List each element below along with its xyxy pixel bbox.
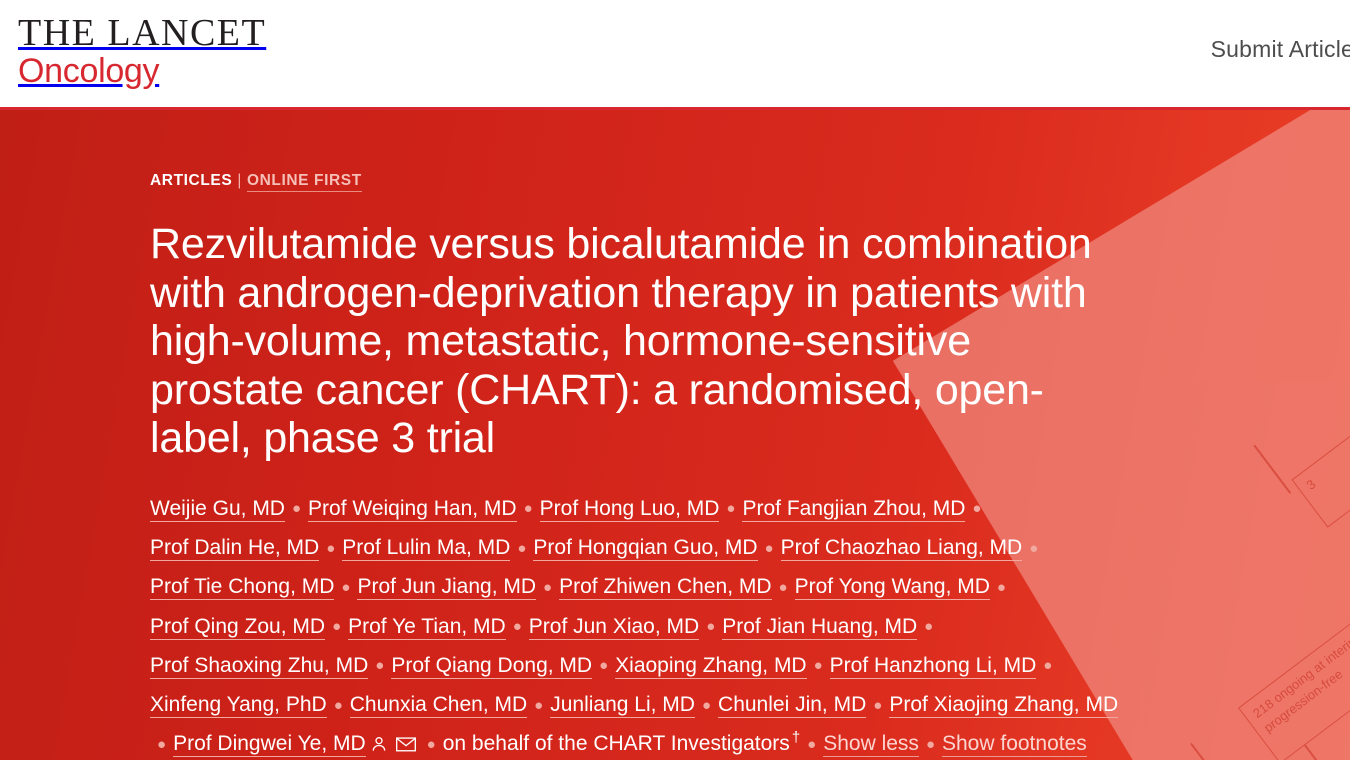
site-header: THE LANCET Oncology Submit Article bbox=[0, 0, 1350, 110]
online-first-link[interactable]: ONLINE FIRST bbox=[247, 172, 362, 192]
author-separator-dot: ● bbox=[517, 535, 526, 563]
author-separator-dot: ● bbox=[706, 613, 715, 641]
author-separator-dot: ● bbox=[972, 495, 981, 523]
author-separator-dot: ● bbox=[513, 613, 522, 641]
article-header-content: ARTICLES|ONLINE FIRST Rezvilutamide vers… bbox=[0, 110, 1120, 760]
author-link[interactable]: Prof Shaoxing Zhu, MD bbox=[150, 654, 368, 679]
author-link[interactable]: Xinfeng Yang, PhD bbox=[150, 693, 327, 718]
kicker-separator: | bbox=[237, 172, 242, 189]
author-separator-dot: ● bbox=[334, 692, 343, 720]
article-hero-banner: 3 218 ongoing at interim progression-fre… bbox=[0, 110, 1350, 760]
author-separator-dot: ● bbox=[1029, 535, 1038, 563]
author-link[interactable]: Prof Jun Jiang, MD bbox=[357, 575, 536, 600]
author-link[interactable]: Prof Jun Xiao, MD bbox=[529, 615, 699, 640]
author-separator-dot: ● bbox=[375, 652, 384, 680]
author-separator-dot: ● bbox=[534, 692, 543, 720]
watermark-box: 218 ongoing at interim progression-free bbox=[1238, 509, 1350, 760]
author-separator-dot: ● bbox=[341, 574, 350, 602]
watermark-connector bbox=[1253, 445, 1291, 494]
watermark-connector bbox=[1190, 743, 1294, 760]
show-less-button[interactable]: Show less bbox=[823, 732, 919, 757]
author-list: Weijie Gu, MD●Prof Weiqing Han, MD●Prof … bbox=[150, 489, 1120, 760]
author-separator-dot: ● bbox=[873, 692, 882, 720]
author-separator-dot: ● bbox=[543, 574, 552, 602]
author-link[interactable]: Prof Hongqian Guo, MD bbox=[533, 536, 757, 561]
footnote-marker[interactable]: † bbox=[792, 729, 800, 746]
watermark-box: 3 bbox=[1292, 390, 1350, 528]
author-separator-dot: ● bbox=[157, 731, 166, 759]
author-link[interactable]: Prof Tie Chong, MD bbox=[150, 575, 334, 600]
author-link[interactable]: Prof Ye Tian, MD bbox=[348, 615, 506, 640]
author-separator-dot: ● bbox=[814, 652, 823, 680]
on-behalf-of-label: on behalf of the CHART Investigators bbox=[443, 732, 790, 755]
article-title: Rezvilutamide versus bicalutamide in com… bbox=[150, 220, 1120, 463]
author-separator-dot: ● bbox=[997, 574, 1006, 602]
author-link[interactable]: Prof Qing Zou, MD bbox=[150, 615, 325, 640]
author-link[interactable]: Prof Dingwei Ye, MD bbox=[173, 732, 366, 757]
author-separator-dot: ● bbox=[926, 731, 935, 759]
author-link[interactable]: Chunxia Chen, MD bbox=[350, 693, 527, 718]
article-type-label: ARTICLES bbox=[150, 172, 232, 189]
author-separator-dot: ● bbox=[702, 692, 711, 720]
author-profile-icon[interactable] bbox=[369, 728, 389, 760]
brand-name-oncology: Oncology bbox=[18, 54, 266, 88]
author-link[interactable]: Prof Jian Huang, MD bbox=[722, 615, 917, 640]
author-link[interactable]: Prof Qiang Dong, MD bbox=[391, 654, 592, 679]
author-separator-dot: ● bbox=[726, 495, 735, 523]
author-link[interactable]: Prof Dalin He, MD bbox=[150, 536, 319, 561]
author-separator-dot: ● bbox=[326, 535, 335, 563]
submit-article-link[interactable]: Submit Article bbox=[1211, 36, 1350, 62]
author-separator-dot: ● bbox=[427, 731, 436, 759]
author-link[interactable]: Prof Zhiwen Chen, MD bbox=[559, 575, 771, 600]
on-behalf-of-text: on behalf of the CHART Investigators† bbox=[443, 732, 800, 755]
author-link[interactable]: Weijie Gu, MD bbox=[150, 497, 285, 522]
author-link[interactable]: Prof Lulin Ma, MD bbox=[342, 536, 510, 561]
author-separator-dot: ● bbox=[599, 652, 608, 680]
author-separator-dot: ● bbox=[765, 535, 774, 563]
show-footnotes-button[interactable]: Show footnotes bbox=[942, 732, 1087, 757]
author-separator-dot: ● bbox=[924, 613, 933, 641]
author-link[interactable]: Junliang Li, MD bbox=[550, 693, 695, 718]
author-separator-dot: ● bbox=[779, 574, 788, 602]
author-link[interactable]: Prof Yong Wang, MD bbox=[795, 575, 990, 600]
author-link[interactable]: Prof Hong Luo, MD bbox=[540, 497, 720, 522]
header-actions: Submit Article bbox=[1211, 36, 1350, 63]
author-link[interactable]: Prof Xiaojing Zhang, MD bbox=[889, 693, 1118, 718]
author-link[interactable]: Prof Chaozhao Liang, MD bbox=[781, 536, 1023, 561]
author-separator-dot: ● bbox=[292, 495, 301, 523]
author-separator-dot: ● bbox=[1043, 652, 1052, 680]
author-link[interactable]: Xiaoping Zhang, MD bbox=[615, 654, 806, 679]
article-kicker: ARTICLES|ONLINE FIRST bbox=[150, 172, 1120, 190]
watermark-connector bbox=[1304, 745, 1350, 760]
author-link[interactable]: Prof Fangjian Zhou, MD bbox=[742, 497, 965, 522]
email-icon[interactable] bbox=[395, 728, 417, 760]
author-link[interactable]: Prof Weiqing Han, MD bbox=[308, 497, 517, 522]
author-separator-dot: ● bbox=[807, 731, 816, 759]
site-logo[interactable]: THE LANCET Oncology bbox=[18, 14, 266, 88]
author-link[interactable]: Chunlei Jin, MD bbox=[718, 693, 866, 718]
brand-name-lancet: THE LANCET bbox=[18, 14, 266, 52]
author-separator-dot: ● bbox=[524, 495, 533, 523]
author-link[interactable]: Prof Hanzhong Li, MD bbox=[830, 654, 1037, 679]
author-separator-dot: ● bbox=[332, 613, 341, 641]
